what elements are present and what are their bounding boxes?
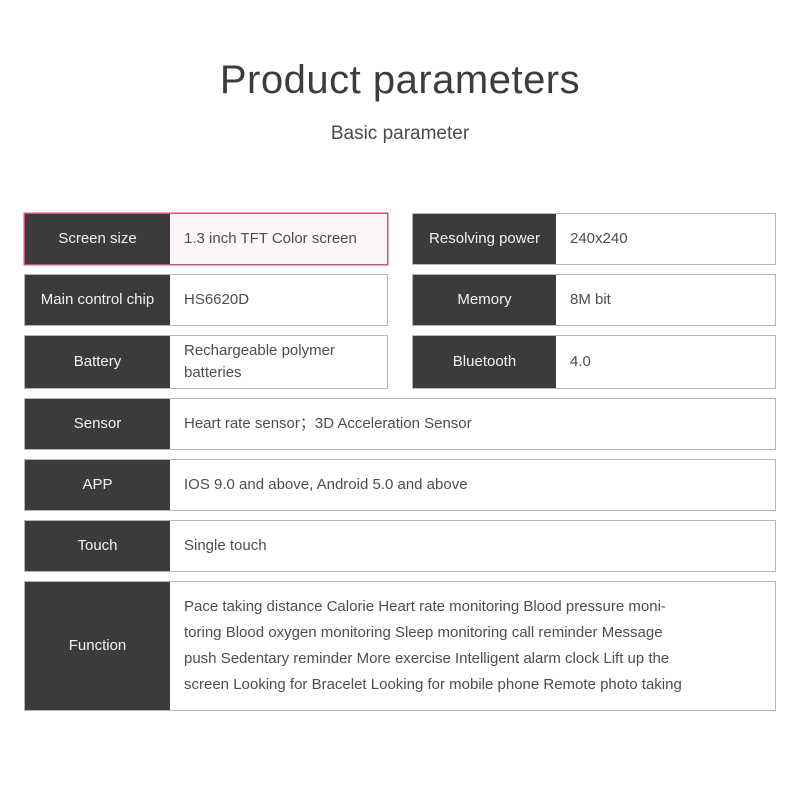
spec-value-function: Pace taking distance Calorie Heart rate … — [170, 582, 775, 710]
spec-label-sensor: Sensor — [25, 399, 170, 449]
spec-label-battery: Battery — [25, 336, 170, 388]
spec-cell-app: APP IOS 9.0 and above, Android 5.0 and a… — [24, 459, 776, 511]
spec-value-function-line1: Pace taking distance Calorie Heart rate … — [184, 594, 682, 620]
spec-cell-battery: Battery Rechargeable polymer batteries — [24, 335, 388, 389]
spec-value-function-line4: screen Looking for Bracelet Looking for … — [184, 672, 682, 698]
spec-label-bluetooth: Bluetooth — [413, 336, 556, 388]
spec-value-battery-line1: Rechargeable polymer — [184, 340, 335, 362]
spec-cell-memory: Memory 8M bit — [412, 274, 776, 326]
spec-cell-touch: Touch Single touch — [24, 520, 776, 572]
spec-value-sensor: Heart rate sensor；3D Acceleration Sensor — [170, 399, 775, 449]
spec-cell-screen-size: Screen size 1.3 inch TFT Color screen — [24, 213, 388, 265]
spec-label-app: APP — [25, 460, 170, 510]
page-title: Product parameters — [0, 58, 800, 102]
spec-value-memory: 8M bit — [556, 275, 775, 325]
spec-value-function-line3: push Sedentary reminder More exercise In… — [184, 646, 682, 672]
spec-label-memory: Memory — [413, 275, 556, 325]
spec-row: APP IOS 9.0 and above, Android 5.0 and a… — [24, 459, 776, 511]
spec-cell-bluetooth: Bluetooth 4.0 — [412, 335, 776, 389]
spec-value-main-control-chip: HS6620D — [170, 275, 387, 325]
spec-label-function: Function — [25, 582, 170, 710]
spec-label-resolving-power: Resolving power — [413, 214, 556, 264]
spec-cell-function: Function Pace taking distance Calorie He… — [24, 581, 776, 711]
spec-label-screen-size: Screen size — [25, 214, 170, 264]
spec-value-touch: Single touch — [170, 521, 775, 571]
spec-row: Touch Single touch — [24, 520, 776, 572]
spec-value-screen-size: 1.3 inch TFT Color screen — [170, 214, 387, 264]
spec-value-battery: Rechargeable polymer batteries — [170, 336, 387, 388]
spec-row: Sensor Heart rate sensor；3D Acceleration… — [24, 398, 776, 450]
spec-row: Function Pace taking distance Calorie He… — [24, 581, 776, 711]
spec-value-app: IOS 9.0 and above, Android 5.0 and above — [170, 460, 775, 510]
spec-label-main-control-chip: Main control chip — [25, 275, 170, 325]
spec-row: Battery Rechargeable polymer batteries B… — [24, 335, 776, 389]
spec-row: Screen size 1.3 inch TFT Color screen Re… — [24, 213, 776, 265]
page-subtitle: Basic parameter — [0, 123, 800, 145]
spec-cell-main-control-chip: Main control chip HS6620D — [24, 274, 388, 326]
page-header: Product parameters Basic parameter — [0, 0, 800, 145]
spec-value-bluetooth: 4.0 — [556, 336, 775, 388]
spec-label-touch: Touch — [25, 521, 170, 571]
spec-row: Main control chip HS6620D Memory 8M bit — [24, 274, 776, 326]
spec-table: Screen size 1.3 inch TFT Color screen Re… — [24, 213, 776, 720]
spec-value-function-line2: toring Blood oxygen monitoring Sleep mon… — [184, 620, 682, 646]
spec-value-resolving-power: 240x240 — [556, 214, 775, 264]
spec-value-battery-line2: batteries — [184, 362, 335, 384]
spec-cell-sensor: Sensor Heart rate sensor；3D Acceleration… — [24, 398, 776, 450]
product-parameters-page: Product parameters Basic parameter Scree… — [0, 0, 800, 800]
spec-cell-resolving-power: Resolving power 240x240 — [412, 213, 776, 265]
